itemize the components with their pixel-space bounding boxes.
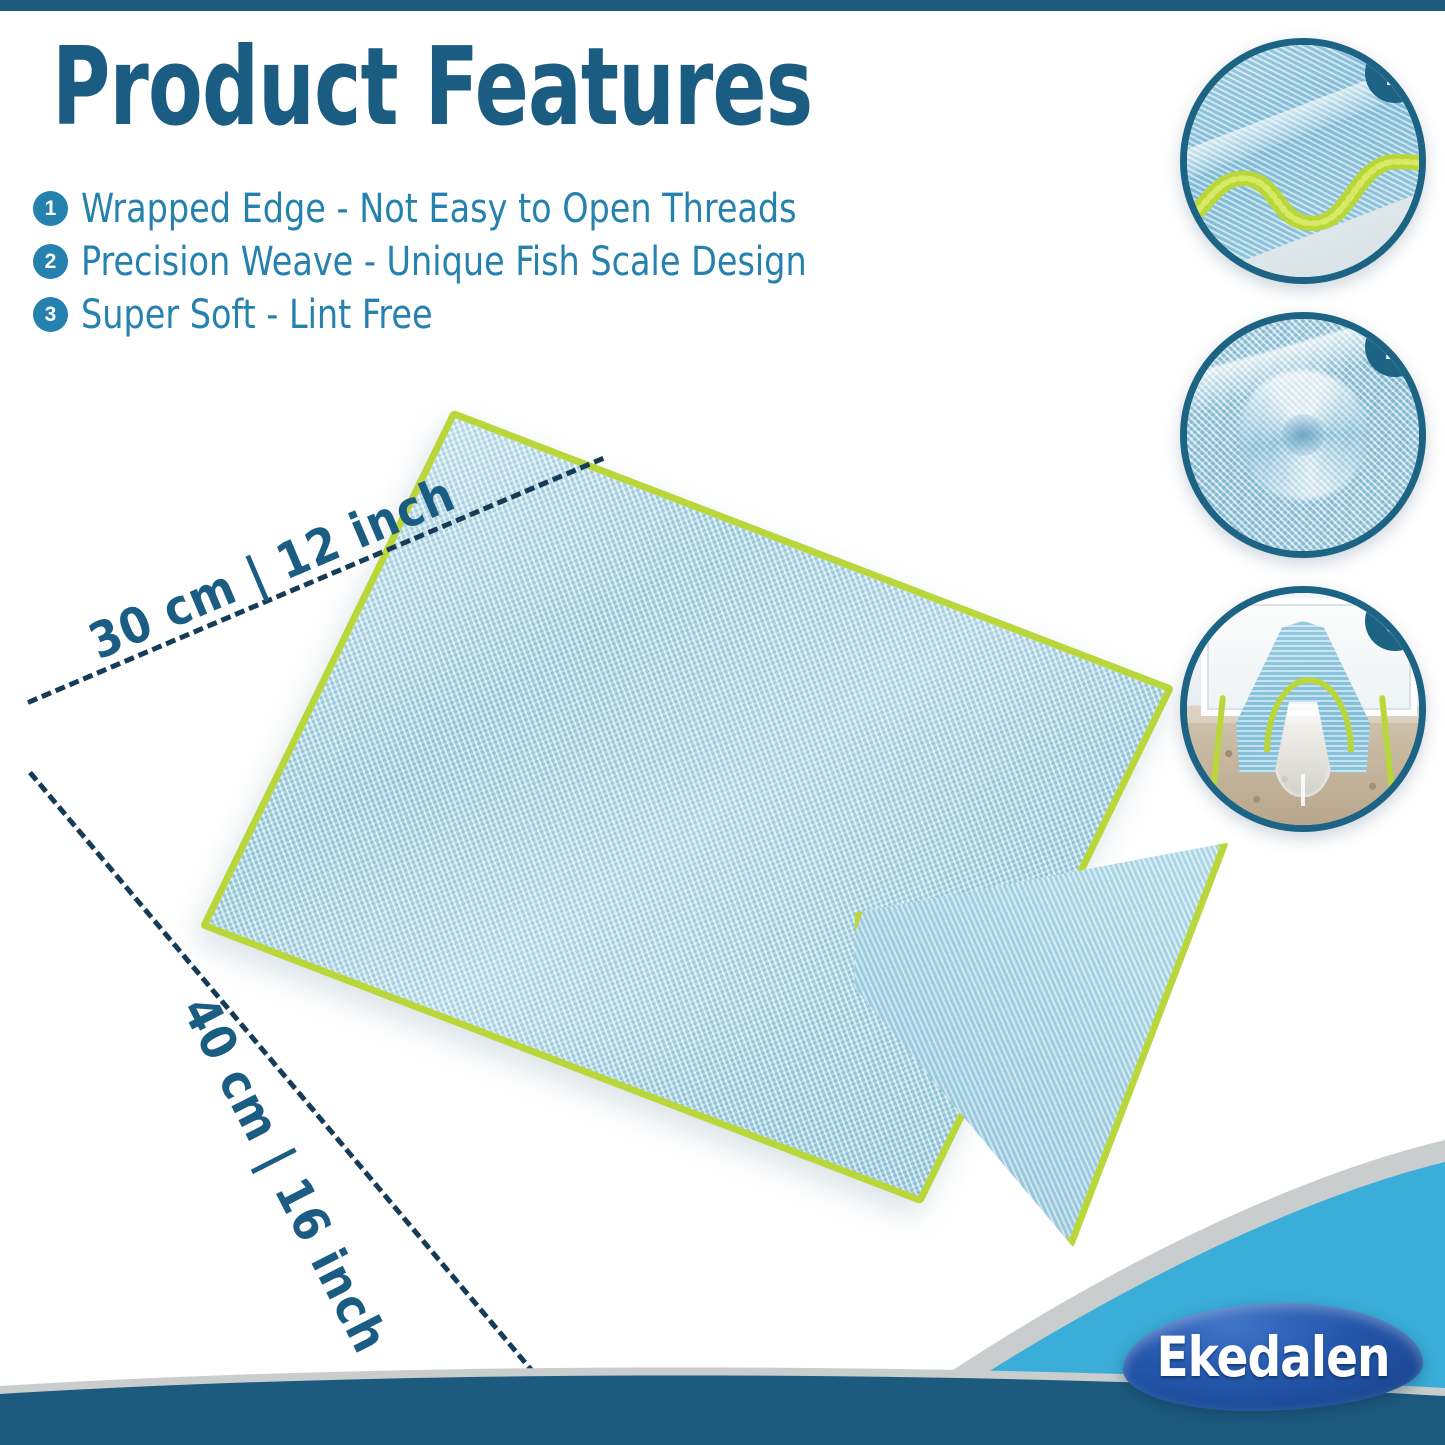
inset-badge-2: 2 <box>1365 317 1425 377</box>
top-border-band <box>0 0 1445 11</box>
feature-list: 1 Wrapped Edge - Not Easy to Open Thread… <box>34 182 894 341</box>
feature-number-badge-2: 2 <box>34 245 67 278</box>
feature-item-3: 3 Super Soft - Lint Free <box>34 288 894 341</box>
page-title: Product Features <box>52 34 812 142</box>
infographic-canvas: Product Features 1 Wrapped Edge - Not Ea… <box>0 0 1445 1445</box>
inset-badge-3: 3 <box>1365 591 1425 651</box>
feature-item-1: 1 Wrapped Edge - Not Easy to Open Thread… <box>34 182 894 235</box>
feature-number-badge-1: 1 <box>34 192 67 225</box>
feature-label-2: Precision Weave - Unique Fish Scale Desi… <box>81 239 807 285</box>
feature-number-badge-3: 3 <box>34 298 67 331</box>
feature-item-2: 2 Precision Weave - Unique Fish Scale De… <box>34 235 894 288</box>
inset-badge-1: 1 <box>1365 43 1425 103</box>
inset-photo-3: 3 <box>1180 586 1426 832</box>
product-illustration <box>0 400 1210 1360</box>
inset-photo-2: 2 <box>1180 312 1426 558</box>
feature-label-3: Super Soft - Lint Free <box>81 292 433 338</box>
brand-logo-text: Ekedalen <box>1131 1303 1416 1411</box>
inset-1-serged-edge <box>1180 138 1426 245</box>
feature-label-1: Wrapped Edge - Not Easy to Open Threads <box>81 186 797 232</box>
inset-photo-1: 1 <box>1180 38 1426 284</box>
brand-logo: Ekedalen <box>1123 1303 1423 1411</box>
inset-3-glass-stem <box>1301 774 1305 806</box>
inset-2-swirl-core <box>1282 414 1324 456</box>
